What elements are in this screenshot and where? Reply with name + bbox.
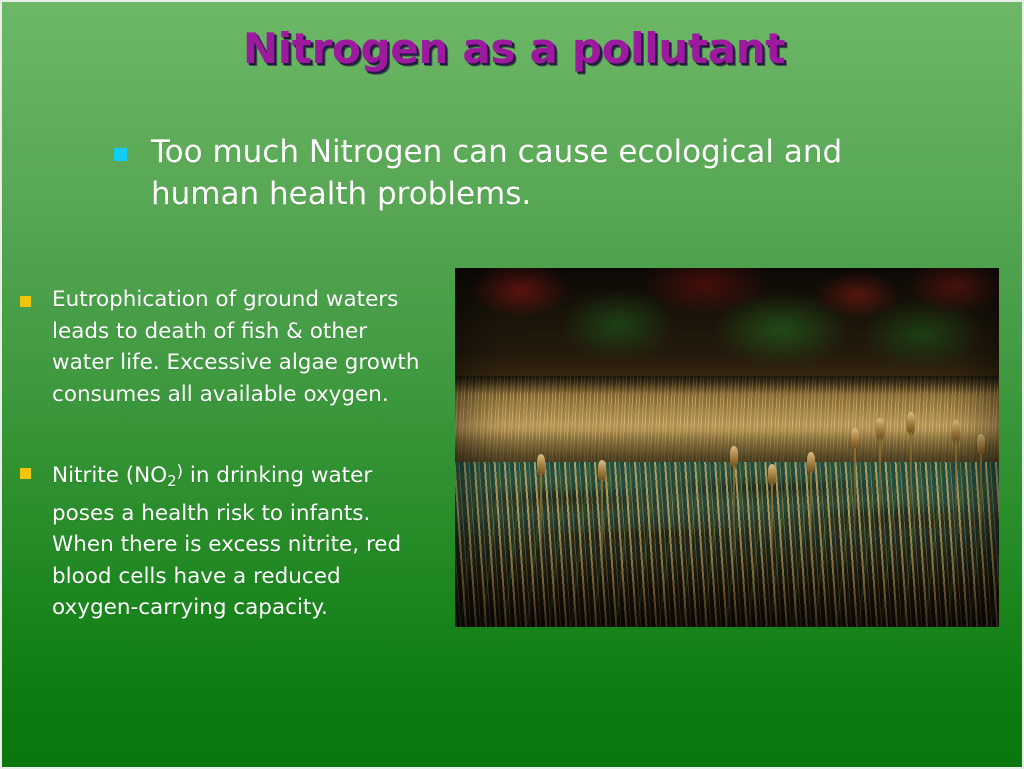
cattail-icon (876, 418, 884, 440)
wetland-photo-canvas (455, 268, 999, 627)
wetland-photo (455, 268, 999, 627)
presentation-slide: Nitrogen as a pollutant Too much Nitroge… (0, 0, 1024, 769)
sub-bullet-list: Eutrophication of ground waters leads to… (20, 284, 432, 624)
cattail-icon (977, 434, 985, 456)
gold-square-bullet-icon (20, 468, 31, 479)
main-bullet-text: Too much Nitrogen can cause ecological a… (151, 131, 874, 215)
cattail-icon (807, 452, 815, 474)
cattail-icon (730, 446, 738, 468)
cattail-icon (952, 420, 960, 442)
sub-bullet-item-nitrite: Nitrite (NO2) in drinking water poses a … (20, 456, 432, 624)
sub-bullet-text-eutrophication: Eutrophication of ground waters leads to… (52, 284, 432, 410)
nitrite-lead-text: Nitrite (NO (52, 463, 167, 488)
cattail-icon (851, 428, 859, 450)
main-bullet-item: Too much Nitrogen can cause ecological a… (114, 131, 874, 215)
photo-foreground-shading-layer (455, 462, 999, 627)
cattail-icon (907, 412, 915, 434)
slide-title: Nitrogen as a pollutant (2, 24, 1024, 73)
cattail-icon (537, 454, 545, 476)
cattail-icon (768, 464, 776, 486)
sub-bullet-text-nitrite: Nitrite (NO2) in drinking water poses a … (52, 456, 432, 624)
gold-square-bullet-icon (20, 296, 31, 307)
sub-bullet-item-eutrophication: Eutrophication of ground waters leads to… (20, 284, 432, 410)
photo-treeline-layer (455, 268, 999, 386)
cyan-square-bullet-icon (114, 148, 127, 161)
cattail-icon (598, 460, 606, 482)
